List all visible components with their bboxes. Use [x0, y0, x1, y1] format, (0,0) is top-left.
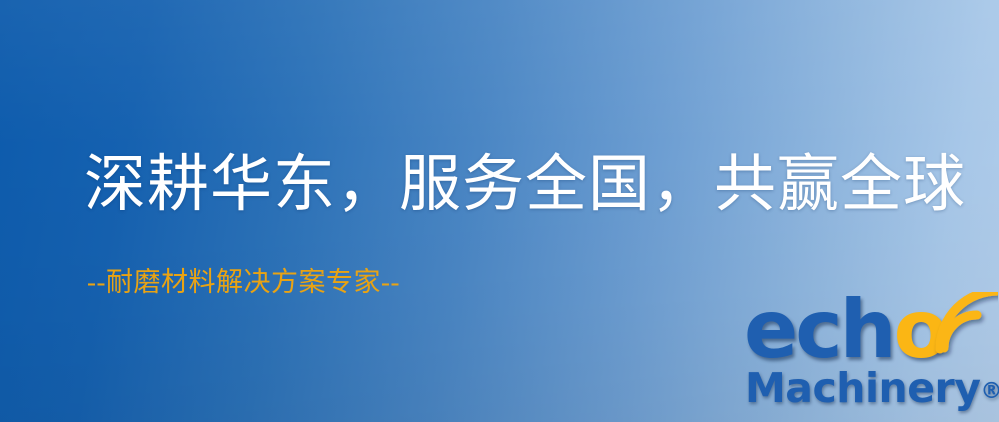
logo-tagline: Machinery®	[745, 368, 999, 409]
page-subtitle: --耐磨材料解决方案专家--	[87, 266, 400, 298]
signal-arcs-icon	[928, 292, 998, 362]
hero-banner: 深耕华东，服务全国，共赢全球 --耐磨材料解决方案专家-- echo Machi…	[0, 0, 999, 422]
registered-trademark-icon: ®	[980, 379, 999, 404]
logo-echo-text: echo	[744, 290, 946, 370]
logo-wordmark: echo	[742, 296, 994, 374]
logo-wordmark-prefix: ech	[744, 283, 894, 376]
logo-tagline-text: Machinery	[745, 364, 980, 412]
echo-machinery-logo[interactable]: echo Machinery®	[742, 296, 994, 418]
page-title: 深耕华东，服务全国，共赢全球	[84, 152, 966, 219]
